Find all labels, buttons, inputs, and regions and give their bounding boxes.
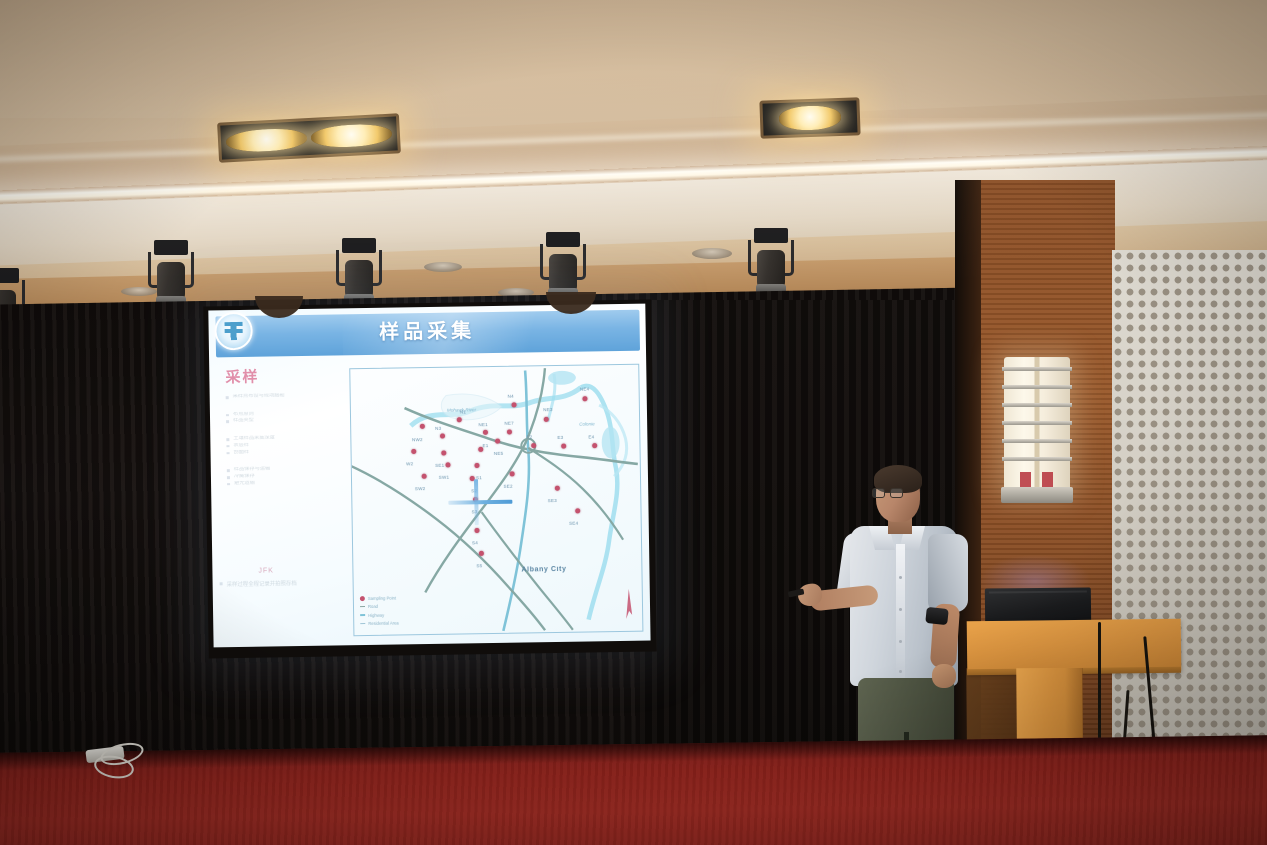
sconce-ring (1002, 439, 1072, 443)
map-sampling-point (495, 439, 500, 444)
sconce-ring (1002, 367, 1072, 371)
slide-bullet-list: 采样点布设与现场踏勘 布点原则 样品类型 土壤样品采集深度 表层样 剖面样 样品… (224, 392, 343, 487)
map-sampling-point (440, 433, 445, 438)
map-point-label: NE4 (580, 386, 590, 391)
north-arrow-glyph (624, 589, 635, 623)
map-point-label: S3 (471, 509, 477, 514)
map-legend-label: Sampling Point (368, 595, 396, 600)
map-point-label: NE1 (478, 422, 488, 427)
map-point-label: E1 (482, 443, 488, 448)
lamp-icon (226, 127, 308, 153)
glasses-lens-right (890, 488, 903, 498)
map-point-label: E3 (557, 435, 563, 440)
ceiling-speaker-icon (424, 262, 462, 272)
map-sampling-point (479, 551, 484, 556)
list-item: 采样点布设与现场踏勘 (224, 392, 342, 400)
lamp-icon (310, 123, 392, 149)
shirt-button (899, 608, 902, 611)
list-item: 避光运输 (225, 479, 343, 487)
ceiling-diagonal-plane (0, 0, 1267, 147)
map-sampling-point (510, 471, 515, 476)
wristwatch (925, 607, 949, 625)
laptop-lid-edge (989, 590, 1087, 593)
slide: 样品采集 采样 采样点布设与现场踏勘 布点原则 样品类型 土壤样品采集深度 表层… (208, 304, 650, 648)
sconce-base (1001, 487, 1073, 503)
sconce-ring (1002, 385, 1072, 389)
map-point-label: S4 (472, 540, 478, 545)
slide-footnote: 采样过程全程记录并拍照存档 (219, 578, 344, 588)
list-item: 剖面样 (225, 448, 343, 456)
map-point-label: SE2 (503, 484, 512, 489)
map-point-label: N4 (508, 394, 514, 399)
sconce-ring (1002, 403, 1072, 407)
map-legend-label: Highway (368, 612, 384, 617)
sconce-ring (1002, 421, 1072, 425)
map-point-label: SE3 (548, 498, 557, 503)
list-item: 样品类型 (224, 417, 342, 425)
ceiling-downlight-single-right (759, 97, 860, 138)
map-legend: Sampling PointRoadHighwayResidential Are… (360, 594, 445, 629)
ceiling-speaker-icon (692, 248, 732, 259)
map-sampling-point (441, 450, 446, 455)
map-sampling-point (411, 449, 416, 454)
wall-sconce (1004, 357, 1070, 493)
glasses-lens-left (872, 488, 885, 498)
conference-hall-photo: 样品采集 采样 采样点布设与现场踏勘 布点原则 样品类型 土壤样品采集深度 表层… (0, 0, 1267, 845)
map-city-label: Albany City (521, 566, 566, 574)
map-legend-label: Road (368, 604, 378, 609)
map-sampling-point (561, 444, 566, 449)
map-sampling-point (445, 462, 450, 467)
shirt-button (899, 576, 902, 579)
sconce-spine (1035, 357, 1040, 493)
shirt-button (899, 670, 902, 673)
map-sampling-point (470, 476, 475, 481)
map-point-label: S5 (476, 563, 482, 568)
sampling-site-map: Mohawk River Colonie Albany City NE4NE3N… (349, 364, 643, 637)
shirt-sleeve-right (928, 534, 968, 612)
map-point-label: SW2 (415, 486, 426, 491)
slide-footnote-label: JFK (258, 567, 274, 574)
shirt-button (899, 640, 902, 643)
map-legend-row: Highway (360, 611, 444, 618)
map-point-label: W2 (406, 461, 413, 466)
map-sampling-point (420, 424, 425, 429)
map-point-label: NE5 (494, 451, 504, 456)
map-sampling-point (457, 417, 462, 422)
map-legend-swatch (360, 606, 365, 608)
map-point-label: NE7 (504, 421, 514, 426)
projection-screen[interactable]: 样品采集 采样 采样点布设与现场踏勘 布点原则 样品类型 土壤样品采集深度 表层… (203, 300, 656, 659)
map-point-label: SW1 (439, 475, 450, 480)
map-legend-swatch (360, 596, 365, 601)
map-point-label: S1 (476, 475, 482, 480)
map-point-label: S2 (471, 488, 477, 493)
shirt-placket (896, 544, 905, 686)
sconce-ring (1002, 457, 1072, 461)
map-sampling-point (474, 463, 479, 468)
slide-subtitle: 采样 (225, 366, 259, 388)
map-point-label: N3 (435, 426, 441, 431)
map-sampling-point (483, 430, 488, 435)
map-sampling-point (582, 396, 587, 401)
north-arrow-icon (624, 589, 635, 623)
map-point-label: E4 (588, 434, 594, 439)
map-sampling-point (544, 417, 549, 422)
map-point-label: SE1 (435, 463, 444, 468)
lamp-icon (779, 105, 842, 130)
map-legend-row: Sampling Point (360, 594, 444, 601)
map-legend-row: Residential Area (360, 619, 444, 626)
map-sampling-point (422, 474, 427, 479)
presenter-hand-right (932, 664, 956, 688)
map-sampling-point (575, 508, 580, 513)
map-sampling-point (592, 443, 597, 448)
map-legend-swatch (360, 623, 365, 625)
map-legend-row: Road (360, 602, 444, 609)
map-point-label: N1 (460, 409, 466, 414)
map-sampling-point (531, 443, 536, 448)
map-place-label: Colonie (579, 421, 595, 426)
map-sampling-point (474, 528, 479, 533)
map-sampling-point (555, 486, 560, 491)
map-sampling-point (507, 429, 512, 434)
perforated-acoustic-wall (1112, 250, 1267, 810)
map-point-label: NE3 (543, 407, 553, 412)
map-point-label: SE4 (569, 521, 578, 526)
map-sampling-point (473, 497, 478, 502)
map-sampling-point (512, 402, 517, 407)
map-point-label: NW2 (412, 437, 423, 442)
podium-desktop (967, 619, 1182, 674)
map-legend-swatch (360, 614, 365, 616)
projected-slide-surface: 样品采集 采样 采样点布设与现场踏勘 布点原则 样品类型 土壤样品采集深度 表层… (208, 304, 650, 648)
eyeglasses-icon (872, 488, 906, 499)
map-point-label: E2 (526, 434, 532, 439)
map-legend-label: Residential Area (368, 621, 399, 626)
